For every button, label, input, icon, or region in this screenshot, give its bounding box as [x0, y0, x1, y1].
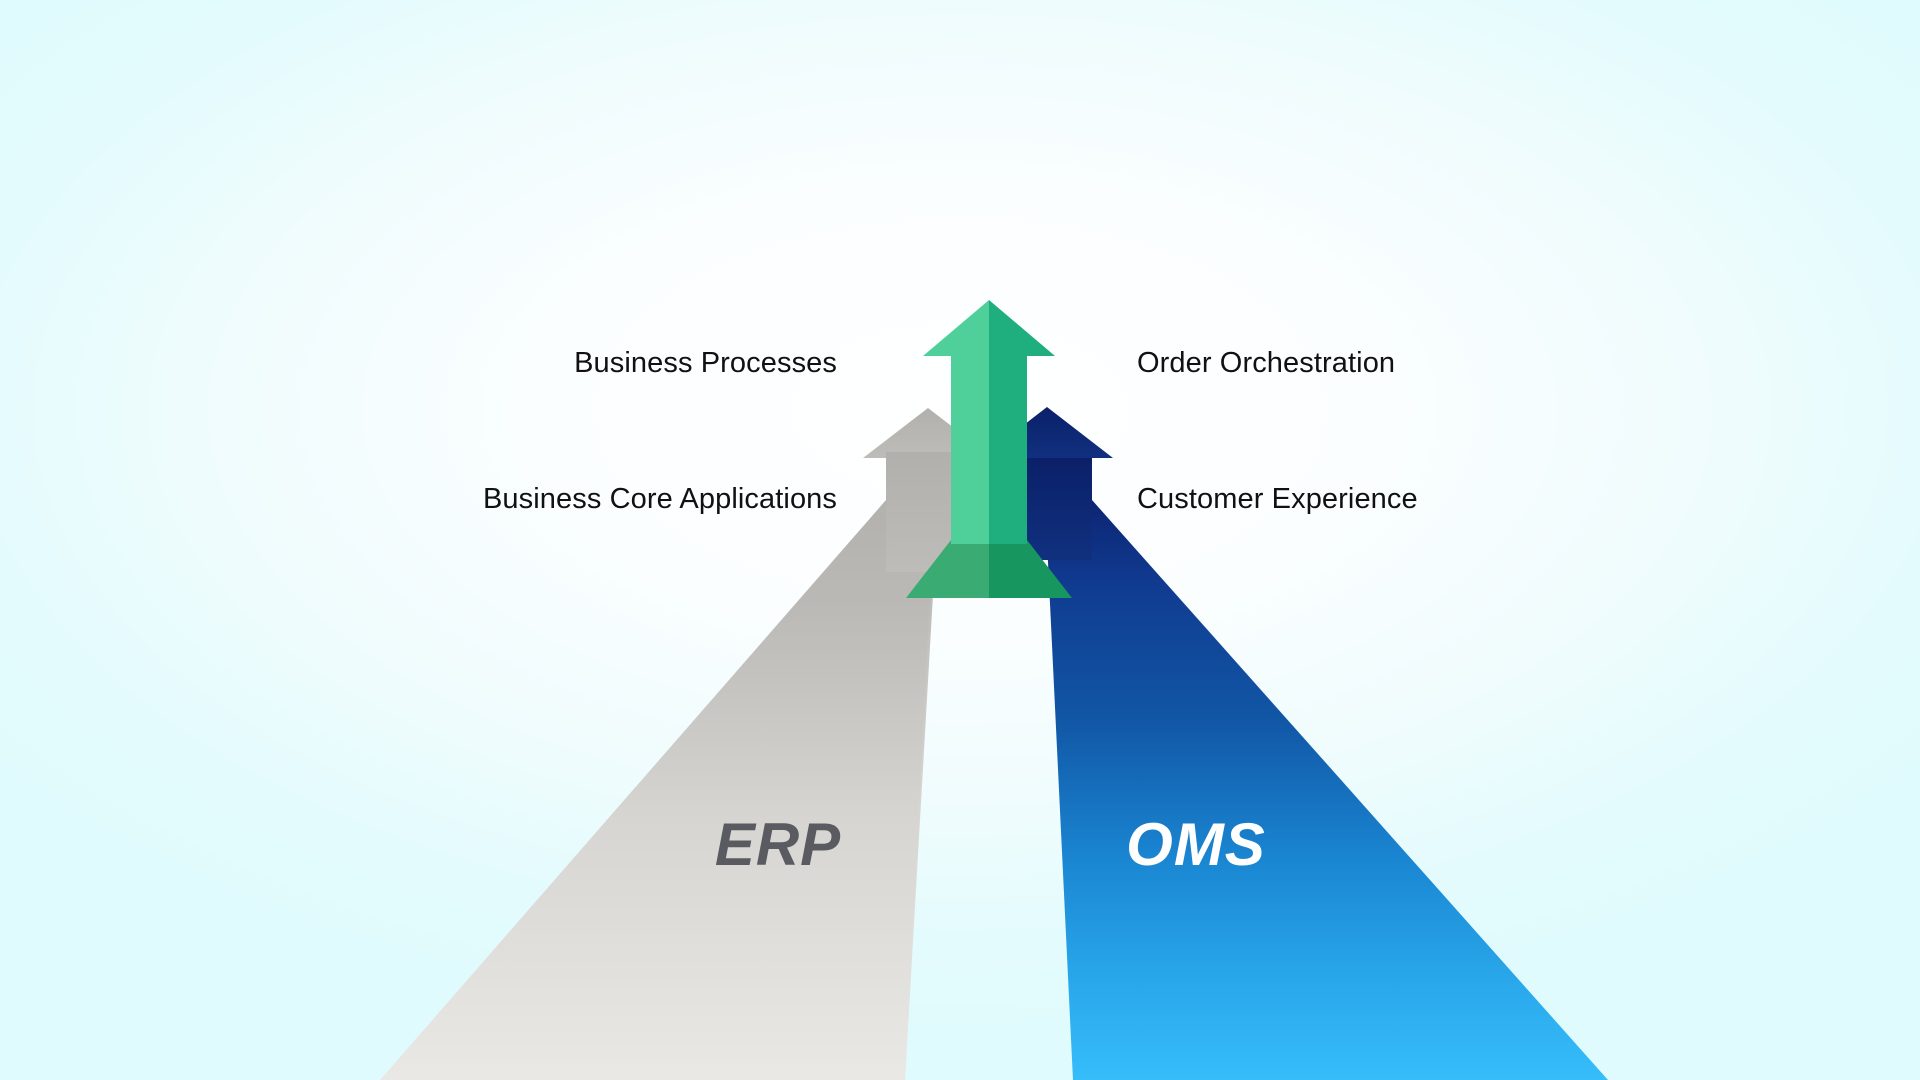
oms-word-mark: OMS — [1126, 811, 1266, 878]
diagram-canvas: ERP OMS Business Processes Order Orchest… — [0, 0, 1920, 1080]
oms-arrow-body — [1045, 500, 1608, 1080]
label-customer-experience: Customer Experience — [1137, 485, 1418, 514]
unified-arrow-head-left — [923, 300, 989, 356]
erp-arrow-body-fan — [380, 500, 935, 1080]
label-order-orchestration: Order Orchestration — [1137, 349, 1395, 378]
unified-arrow-head-right — [989, 300, 1055, 356]
label-business-core-applications: Business Core Applications — [483, 485, 837, 514]
unified-arrow-shaft-right — [989, 352, 1027, 544]
erp-word-mark: ERP — [715, 811, 841, 878]
unified-arrow-shaft-left — [951, 352, 989, 544]
convergence-arrows-graphic: ERP OMS — [0, 0, 1920, 1080]
label-business-processes: Business Processes — [574, 349, 837, 378]
